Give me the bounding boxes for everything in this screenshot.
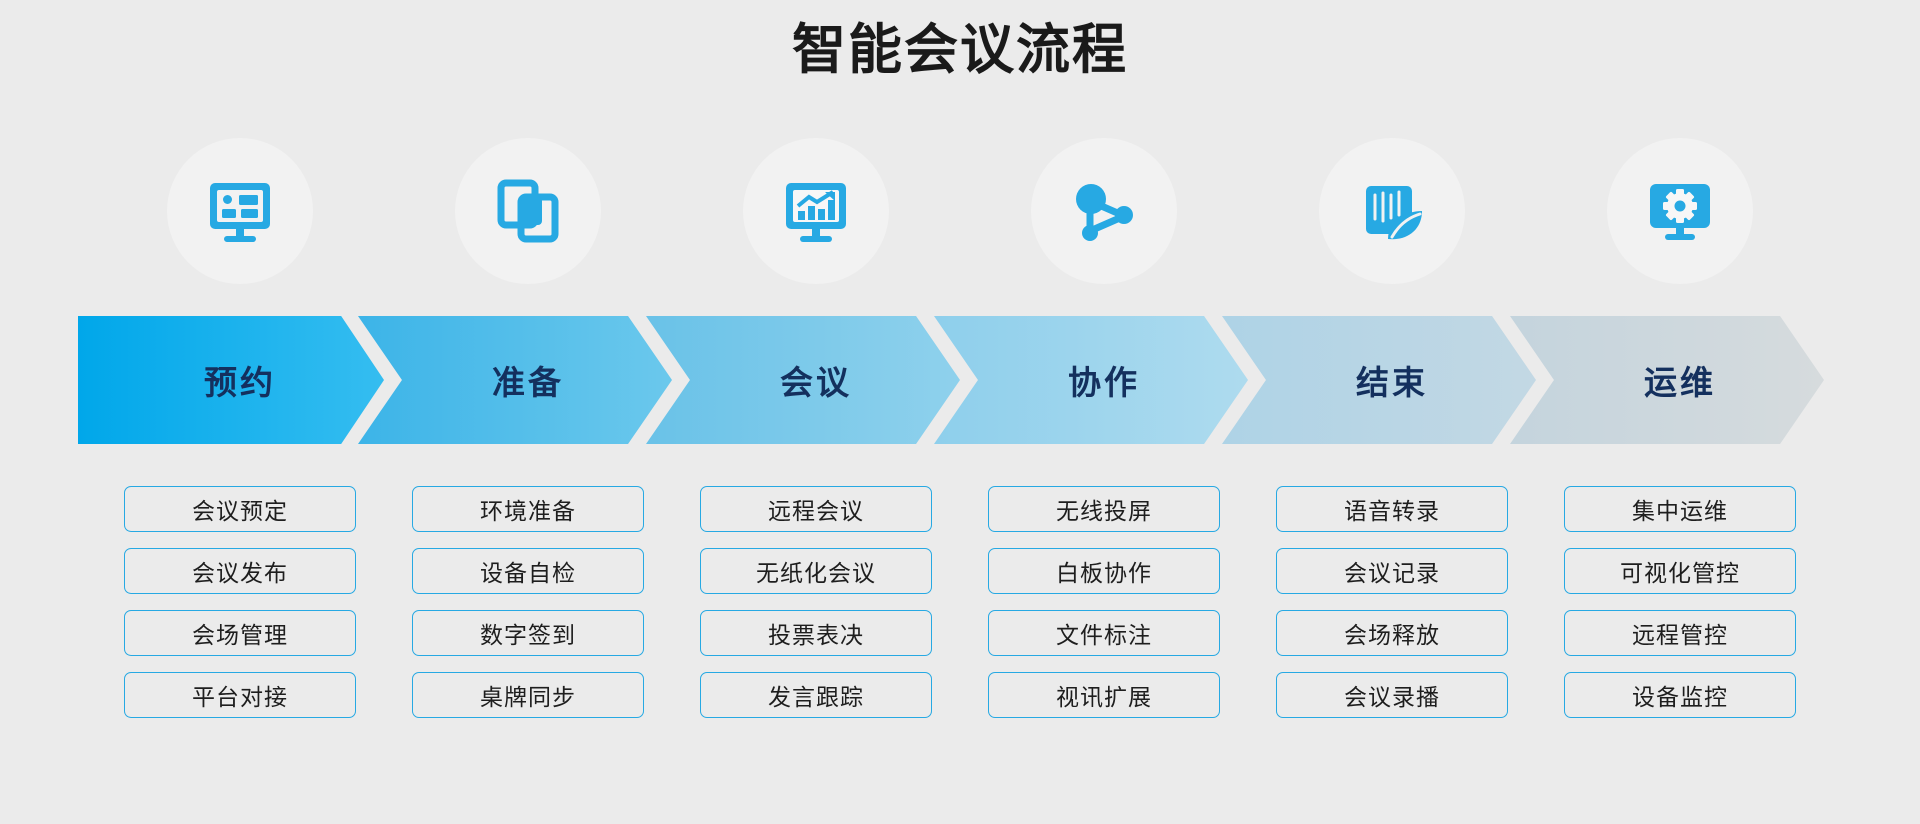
monitor-gear-icon [1607,138,1753,284]
feature-card[interactable]: 白板协作 [988,548,1220,594]
feature-card[interactable]: 远程管控 [1564,610,1796,656]
card-column-end: 语音转录 会议记录 会场释放 会议录播 [1248,486,1536,718]
icon-cell-booking [96,138,384,284]
feature-card[interactable]: 无线投屏 [988,486,1220,532]
card-leaf-icon [1319,138,1465,284]
feature-card[interactable]: 会议记录 [1276,548,1508,594]
card-column-collaboration: 无线投屏 白板协作 文件标注 视讯扩展 [960,486,1248,718]
feature-card[interactable]: 平台对接 [124,672,356,718]
feature-card[interactable]: 会场管理 [124,610,356,656]
share-network-icon [1031,138,1177,284]
feature-card[interactable]: 发言跟踪 [700,672,932,718]
stage-label: 协作 [1068,356,1140,404]
feature-card[interactable]: 无纸化会议 [700,548,932,594]
stage-chevron-booking[interactable]: 预约 [96,316,384,444]
stage-label: 运维 [1644,356,1716,404]
feature-card[interactable]: 投票表决 [700,610,932,656]
feature-card[interactable]: 可视化管控 [1564,548,1796,594]
icon-row [96,138,1824,284]
card-column-preparation: 环境准备 设备自检 数字签到 桌牌同步 [384,486,672,718]
stage-label: 预约 [204,356,276,404]
icon-cell-collaboration [960,138,1248,284]
feature-card[interactable]: 环境准备 [412,486,644,532]
monitor-layout-icon [167,138,313,284]
feature-card[interactable]: 会议预定 [124,486,356,532]
icon-cell-meeting [672,138,960,284]
card-column-meeting: 远程会议 无纸化会议 投票表决 发言跟踪 [672,486,960,718]
card-column-booking: 会议预定 会议发布 会场管理 平台对接 [96,486,384,718]
feature-card[interactable]: 会议发布 [124,548,356,594]
stage-chevron-collaboration[interactable]: 协作 [960,316,1248,444]
stage-label: 会议 [780,356,852,404]
page-title: 智能会议流程 [0,0,1920,83]
feature-card[interactable]: 视讯扩展 [988,672,1220,718]
overlapping-windows-icon [455,138,601,284]
stage-chevron-meeting[interactable]: 会议 [672,316,960,444]
feature-card[interactable]: 集中运维 [1564,486,1796,532]
icon-cell-operations [1536,138,1824,284]
feature-card[interactable]: 语音转录 [1276,486,1508,532]
feature-card[interactable]: 会议录播 [1276,672,1508,718]
feature-cards-row: 会议预定 会议发布 会场管理 平台对接 环境准备 设备自检 数字签到 桌牌同步 … [96,486,1824,718]
stage-chevron-end[interactable]: 结束 [1248,316,1536,444]
feature-card[interactable]: 桌牌同步 [412,672,644,718]
card-column-operations: 集中运维 可视化管控 远程管控 设备监控 [1536,486,1824,718]
icon-cell-end [1248,138,1536,284]
feature-card[interactable]: 文件标注 [988,610,1220,656]
stage-chevron-operations[interactable]: 运维 [1536,316,1824,444]
feature-card[interactable]: 设备自检 [412,548,644,594]
feature-card[interactable]: 数字签到 [412,610,644,656]
feature-card[interactable]: 会场释放 [1276,610,1508,656]
monitor-chart-icon [743,138,889,284]
feature-card[interactable]: 远程会议 [700,486,932,532]
stage-label: 准备 [492,356,564,404]
icon-cell-preparation [384,138,672,284]
stage-label: 结束 [1356,356,1428,404]
stage-chevron-row: 预约 准备 会议 协作 结束 运维 [96,316,1824,444]
feature-card[interactable]: 设备监控 [1564,672,1796,718]
stage-chevron-preparation[interactable]: 准备 [384,316,672,444]
